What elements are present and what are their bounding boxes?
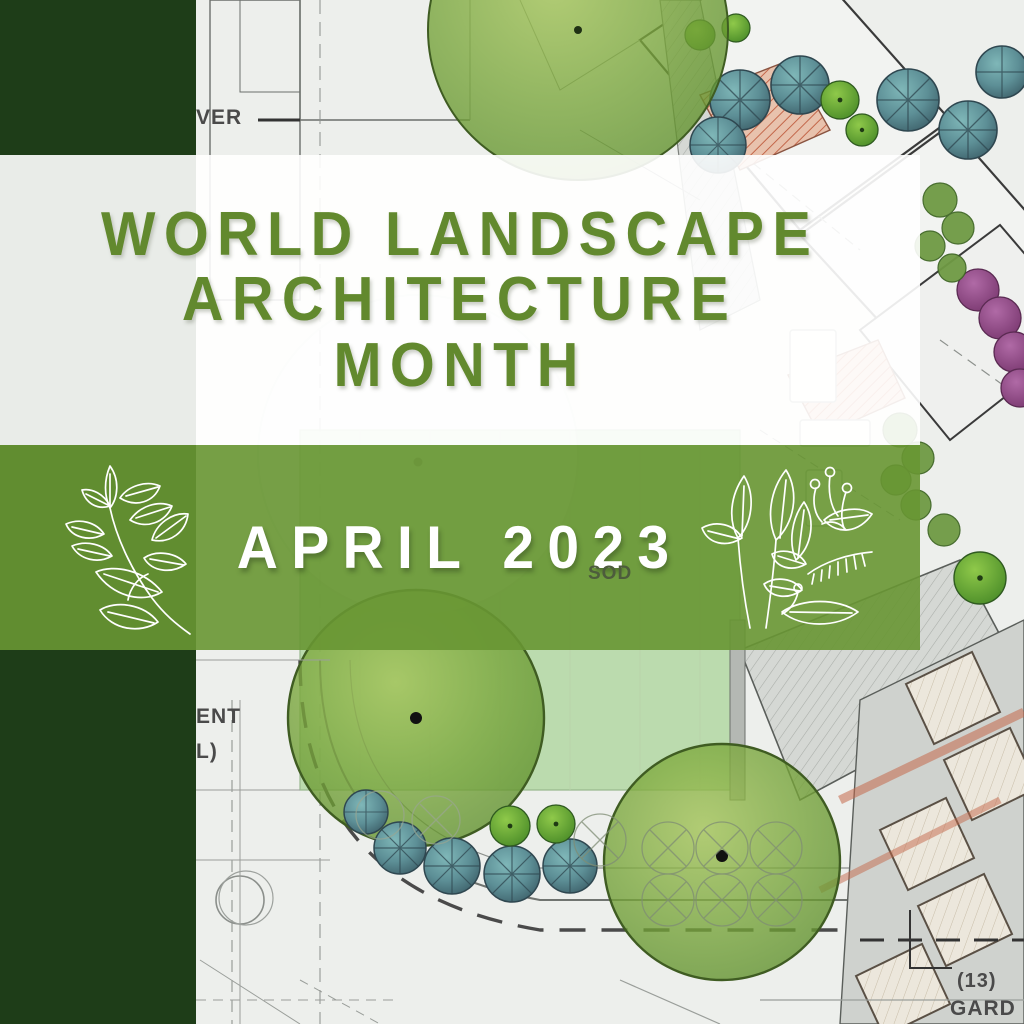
poster-canvas: WORLD LANDSCAPE ARCHITECTURE MONTH APRIL… [0, 0, 1024, 1024]
title-line-1: WORLD LANDSCAPE [101, 203, 819, 266]
plan-label-sod: SOD [588, 563, 632, 585]
plan-label-easement: ENT [196, 705, 241, 729]
plan-label-typical: L) [196, 740, 218, 764]
left-accent-bar-bottom [0, 650, 196, 1024]
plan-label-garden: GARD [950, 997, 1016, 1021]
title-line-3: MONTH [333, 334, 586, 397]
plan-label-count: (13) [957, 970, 997, 993]
title-line-2: ARCHITECTURE [182, 268, 737, 331]
poster-date-row: APRIL 2023 [0, 445, 920, 650]
poster-title: WORLD LANDSCAPE ARCHITECTURE MONTH [0, 155, 920, 445]
left-accent-bar-top [0, 0, 196, 156]
plan-label-paver: VER [196, 106, 242, 130]
